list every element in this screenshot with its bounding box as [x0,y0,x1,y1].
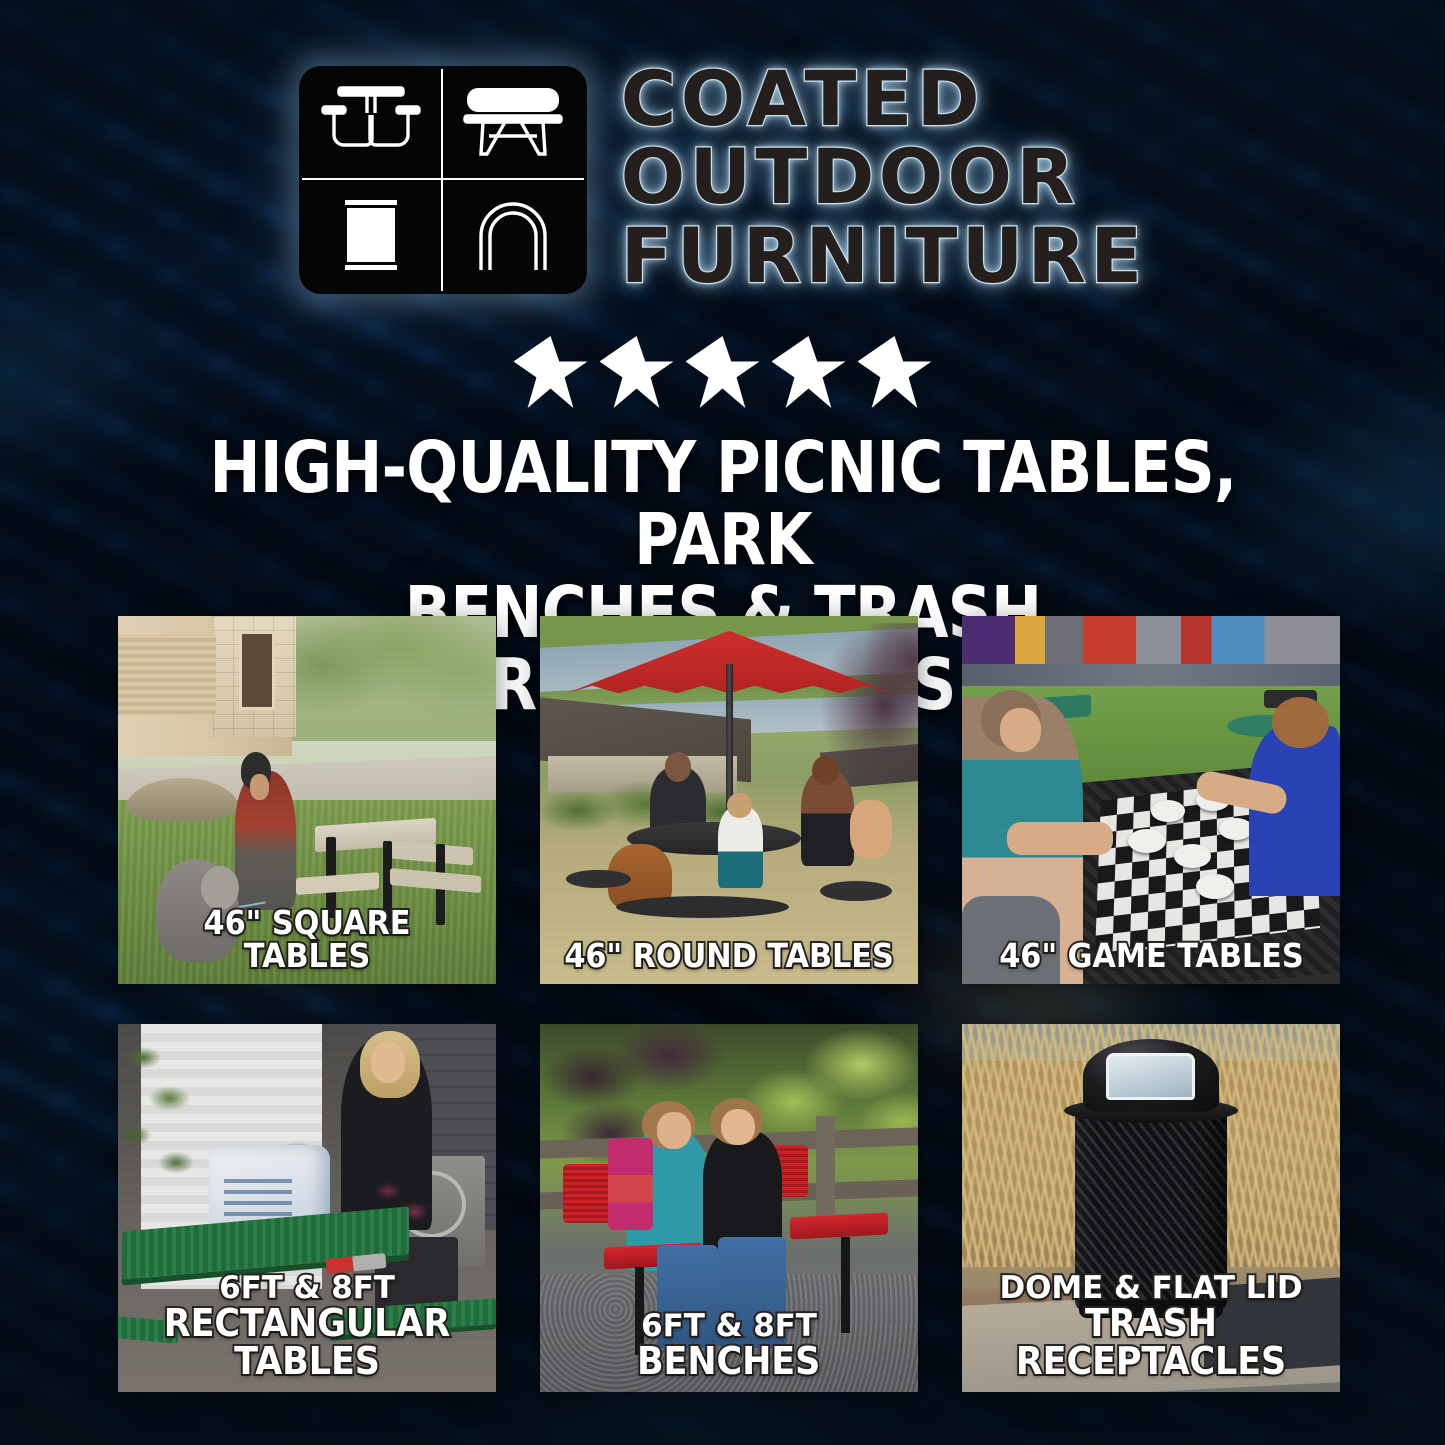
product-card-trash-receptacles[interactable]: DOME & FLAT LID TRASH RECEPTACLES [962,1024,1340,1392]
headline-line-1: HIGH-QUALITY PICNIC TABLES, PARK [172,432,1273,577]
product-card-label: 6FT & 8FT BENCHES [548,1311,910,1380]
product-label-top: 6FT & 8FT [126,1273,488,1304]
bike-rack-arch-icon [443,180,584,291]
brand-header: COATED OUTDOOR FURNITURE [0,62,1445,297]
picnic-table-front-icon [302,69,443,180]
brand-line-1: COATED [621,62,1147,136]
product-label-main: 46" SQUARE TABLES [140,906,473,972]
product-label-main: TRASH RECEPTACLES [984,1304,1317,1380]
brand-wordmark: COATED OUTDOOR FURNITURE [621,62,1147,297]
product-label-top: 6FT & 8FT [548,1311,910,1342]
brand-logo-mark [299,66,587,294]
product-card-rectangular-tables[interactable]: 6FT & 8FT RECTANGULAR TABLES [118,1024,496,1392]
product-card-label: 46" SQUARE TABLES [126,906,488,972]
brand-line-2: OUTDOOR [621,140,1147,214]
product-label-top: DOME & FLAT LID [970,1273,1332,1304]
product-label-main: 46" ROUND TABLES [564,939,893,972]
product-label-main: RECTANGULAR TABLES [140,1304,473,1380]
poster-content: COATED OUTDOOR FURNITURE HIGH-QUALITY PI… [0,0,1445,1445]
product-card-benches[interactable]: 6FT & 8FT BENCHES [540,1024,918,1392]
product-card-label: 46" ROUND TABLES [548,939,910,972]
brand-line-3: FURNITURE [621,219,1147,293]
star-icon [514,336,588,408]
product-grid: 46" SQUARE TABLES [118,616,1340,1392]
product-card-label: 46" GAME TABLES [970,939,1332,972]
product-photo-round-tables [540,616,918,984]
trash-receptacle-icon [302,180,443,291]
product-label-main: BENCHES [637,1342,820,1380]
picnic-table-side-icon [443,69,584,180]
product-card-label: 6FT & 8FT RECTANGULAR TABLES [126,1273,488,1380]
star-icon [600,336,674,408]
star-icon [858,336,932,408]
star-icon [772,336,846,408]
product-card-game-tables[interactable]: 46" GAME TABLES [962,616,1340,984]
five-star-rating [0,336,1445,408]
promo-poster: COATED OUTDOOR FURNITURE HIGH-QUALITY PI… [0,0,1445,1445]
product-card-square-tables[interactable]: 46" SQUARE TABLES [118,616,496,984]
product-label-main: 46" GAME TABLES [999,939,1303,972]
product-card-round-tables[interactable]: 46" ROUND TABLES [540,616,918,984]
product-card-label: DOME & FLAT LID TRASH RECEPTACLES [970,1273,1332,1380]
product-photo-game-tables [962,616,1340,984]
star-icon [686,336,760,408]
